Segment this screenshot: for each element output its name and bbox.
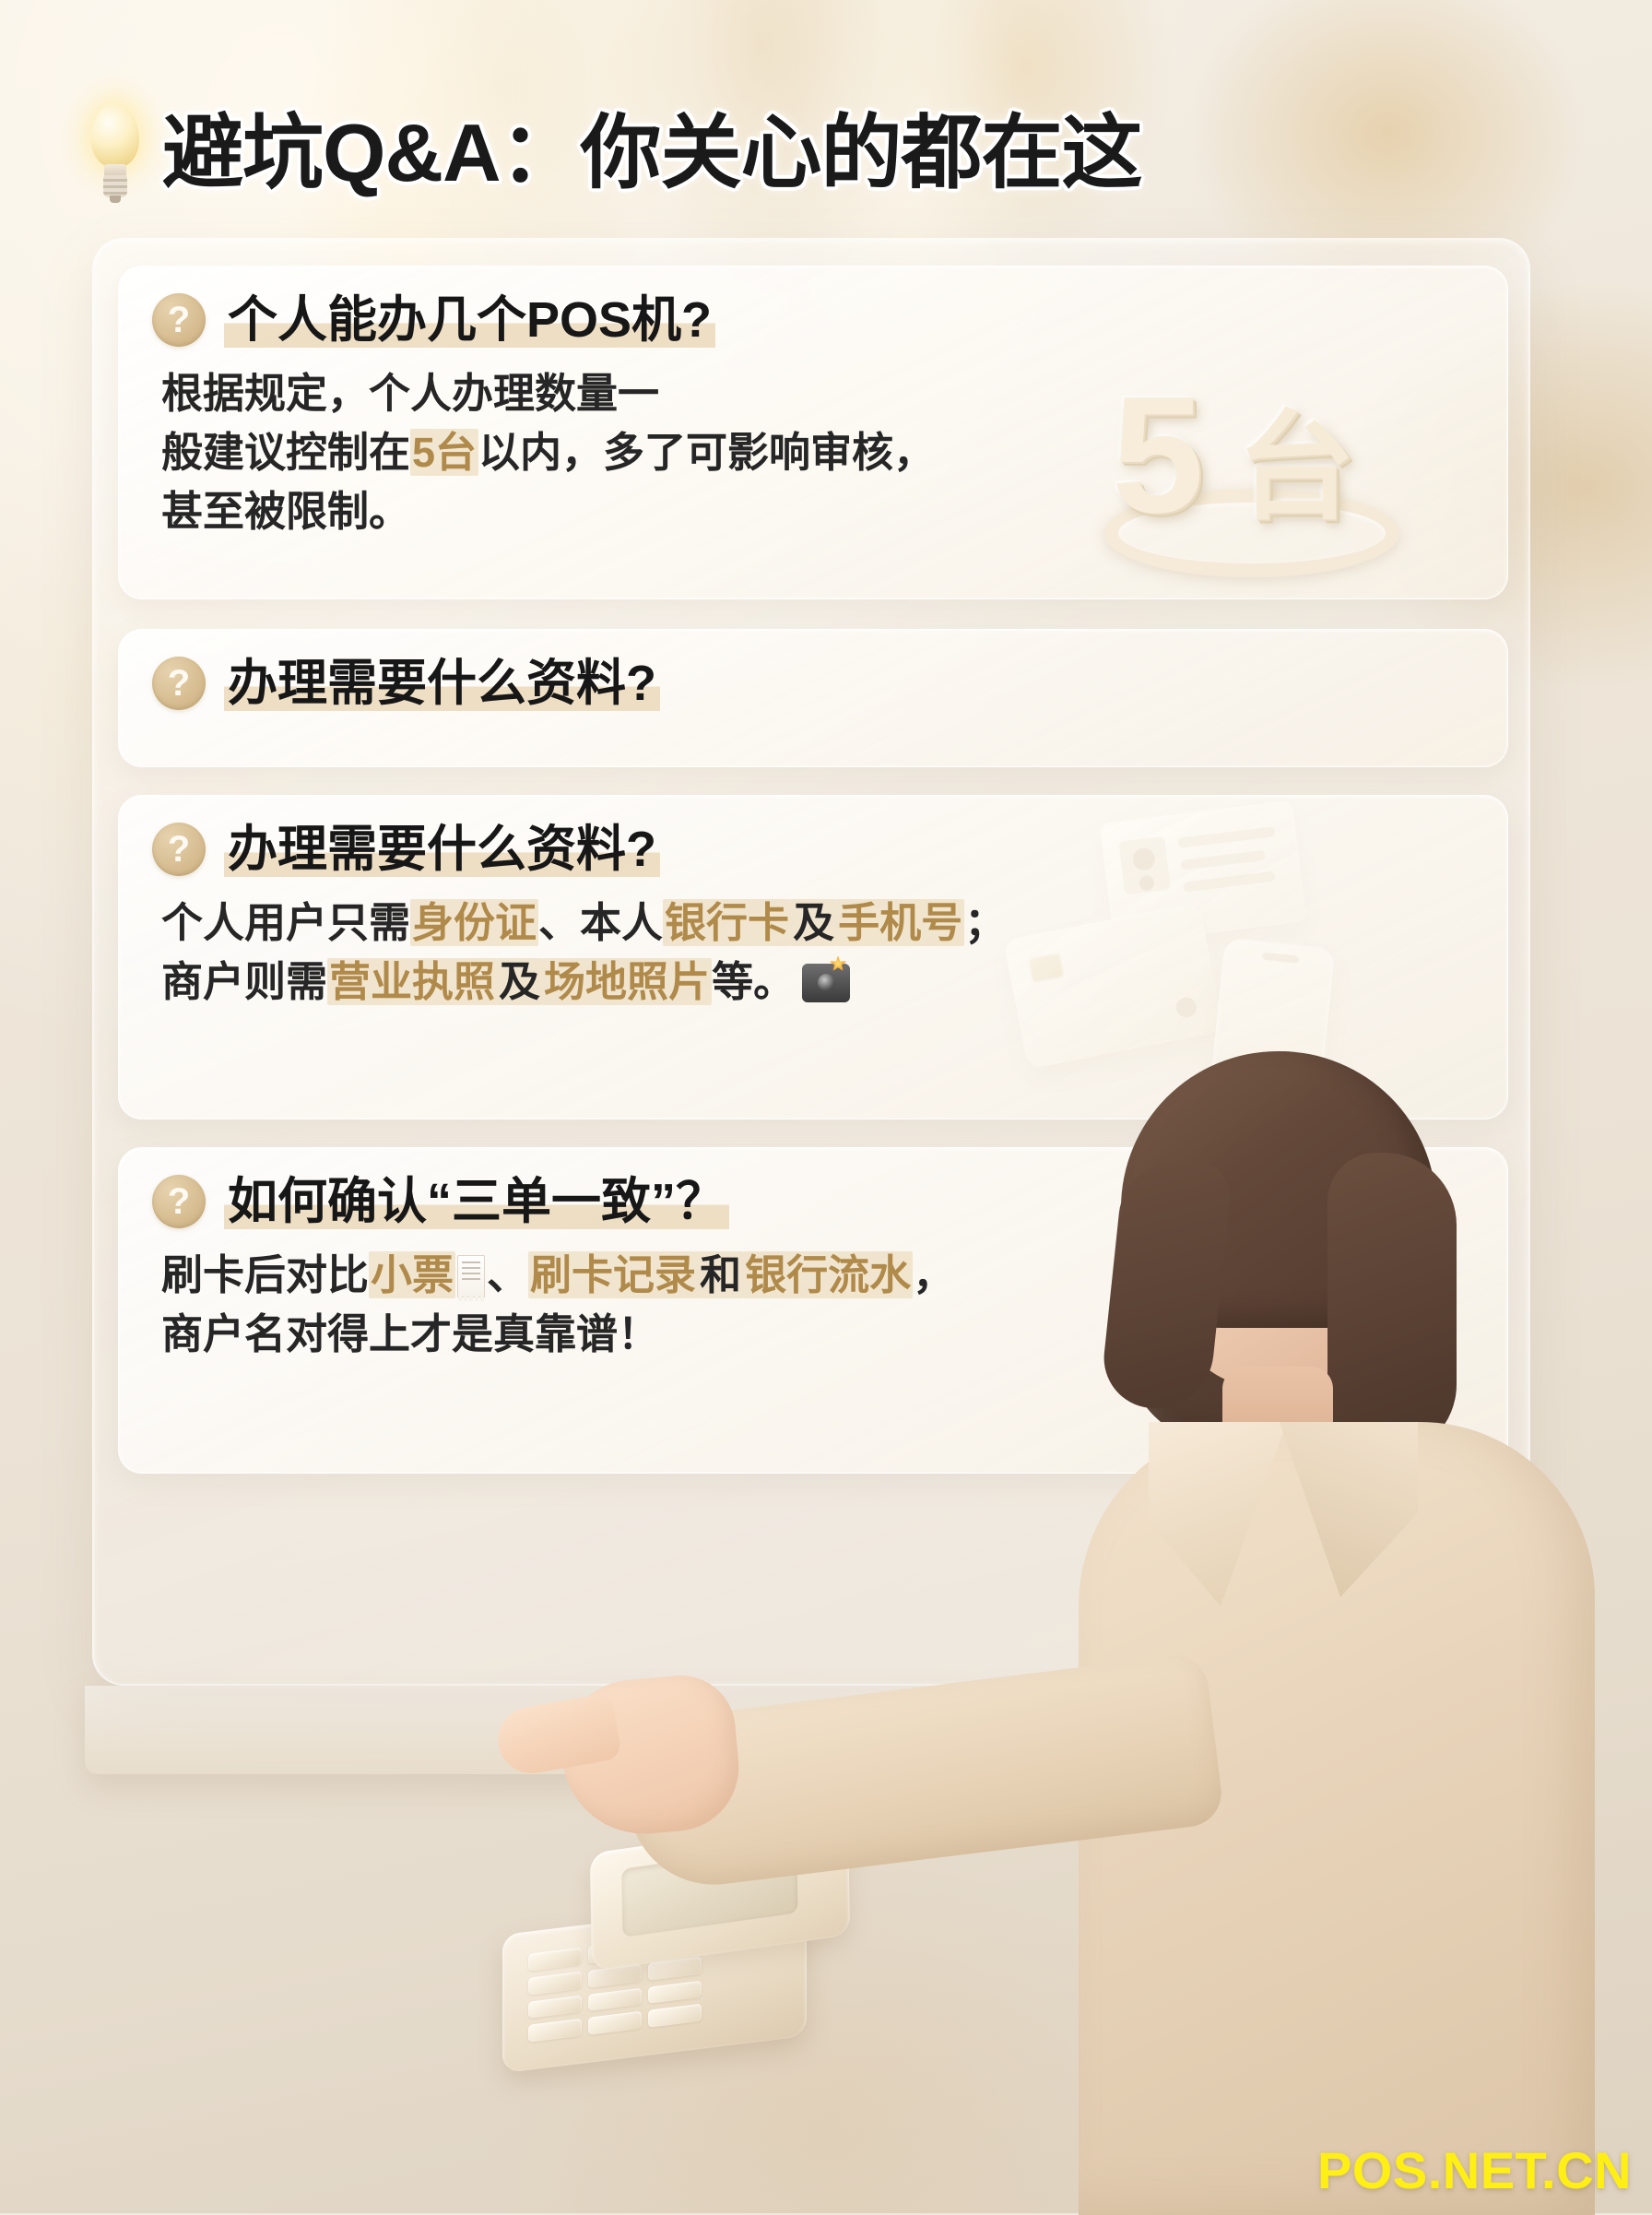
qa-card-3[interactable]: ? 办理需要什么资料? 个人用户只需身份证、本人银行卡及手机号； 商户则需营业执… — [118, 795, 1508, 1119]
question-mark-icon: ? — [152, 823, 206, 876]
answer-seg: 、本人 — [538, 899, 663, 946]
answer-line: 个人用户只需身份证、本人银行卡及手机号； — [161, 894, 1470, 953]
answer-seg: 刷卡后对比 — [161, 1251, 369, 1298]
question-row: ? 个人能办几个POS机? — [119, 267, 1507, 348]
question-row: ? 办理需要什么资料? — [119, 796, 1507, 877]
answer-line: 刷卡后对比小票、刷卡记录和银行流水， — [161, 1246, 1470, 1305]
answer-seg: 及 — [497, 958, 542, 1005]
answer-highlight: 小票 — [369, 1251, 455, 1298]
answer-seg: 甚至被限制。 — [161, 488, 410, 535]
question-text: 办理需要什么资料? — [224, 656, 660, 711]
answer-highlight: 营业执照 — [327, 958, 497, 1005]
page-header: 避坑Q&A：你关心的都在这 — [85, 89, 1283, 218]
answer-seg: ； — [964, 899, 1006, 946]
answer-highlight: 场地照片 — [542, 958, 712, 1005]
question-mark-icon: ? — [152, 1175, 206, 1228]
answer-line: 甚至被限制。 — [161, 482, 1470, 541]
answer-seg: 根据规定，个人办理数量一 — [161, 370, 659, 417]
answer-seg: ， — [913, 1251, 954, 1298]
lightbulb-icon — [85, 101, 146, 205]
answer-seg: 和 — [698, 1251, 743, 1298]
answer-body: 个人用户只需身份证、本人银行卡及手机号； 商户则需营业执照及场地照片等。 — [119, 877, 1507, 1012]
answer-seg: 商户则需 — [161, 958, 327, 1005]
page-title: 避坑Q&A：你关心的都在这 — [162, 113, 1142, 194]
answer-seg: 商户名对得上才是真靠谱！ — [161, 1310, 659, 1357]
answer-line: 根据规定，个人办理数量一 — [161, 364, 1470, 423]
answer-highlight: 银行流水 — [743, 1251, 913, 1298]
answer-highlight: 5台 — [410, 429, 478, 476]
qa-card-1[interactable]: ? 个人能办几个POS机? 根据规定，个人办理数量一 般建议控制在5台以内，多了… — [118, 266, 1508, 599]
question-row: ? 如何确认“三单一致”？ — [119, 1148, 1507, 1229]
answer-body: 根据规定，个人办理数量一 般建议控制在5台以内，多了可影响审核， 甚至被限制。 — [119, 348, 1507, 541]
answer-seg: 等。 — [712, 958, 795, 1005]
camera-icon — [802, 964, 850, 1002]
question-row: ? 办理需要什么资料? — [119, 630, 1507, 711]
answer-line: 般建议控制在5台以内，多了可影响审核， — [161, 423, 1470, 482]
question-mark-icon: ? — [152, 293, 206, 347]
answer-line: 商户则需营业执照及场地照片等。 — [161, 953, 1470, 1012]
answer-highlight: 手机号 — [836, 899, 964, 946]
answer-seg: 以内，多了可影响审核， — [478, 429, 935, 476]
answer-highlight: 刷卡记录 — [528, 1251, 698, 1298]
receipt-icon — [457, 1255, 485, 1297]
answer-highlight: 身份证 — [410, 899, 538, 946]
qa-card-2[interactable]: ? 办理需要什么资料? — [118, 629, 1508, 767]
question-text: 个人能办几个POS机? — [224, 292, 715, 348]
qa-card-4[interactable]: ? 如何确认“三单一致”？ 刷卡后对比小票、刷卡记录和银行流水， 商户名对得上才… — [118, 1147, 1508, 1474]
question-text: 办理需要什么资料? — [224, 822, 660, 877]
question-text: 如何确认“三单一致”？ — [224, 1174, 729, 1229]
glass-panel-base — [85, 1686, 1468, 1774]
site-watermark: POS.NET.CN — [1317, 2140, 1632, 2200]
answer-line: 商户名对得上才是真靠谱！ — [161, 1305, 1470, 1364]
answer-seg: 般建议控制在 — [161, 429, 410, 476]
answer-seg: 、 — [487, 1251, 528, 1298]
question-mark-icon: ? — [152, 657, 206, 710]
answer-body: 刷卡后对比小票、刷卡记录和银行流水， 商户名对得上才是真靠谱！ — [119, 1229, 1507, 1364]
answer-seg: 个人用户只需 — [161, 899, 410, 946]
answer-seg: 及 — [791, 899, 836, 946]
answer-highlight: 银行卡 — [663, 899, 791, 946]
